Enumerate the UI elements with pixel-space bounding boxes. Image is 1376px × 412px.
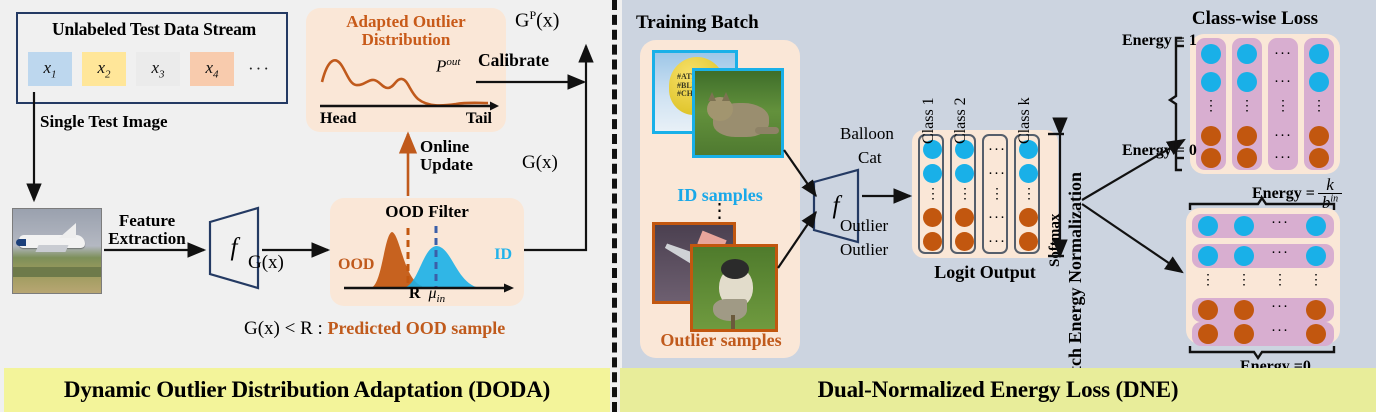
feature-extractor-trapezoid-left: f: [208, 206, 260, 290]
id-sample-cat-thumbnail: [692, 68, 784, 158]
logit-vertical-dots: ⋮: [920, 190, 946, 201]
class-wise-dot-blue: [1201, 44, 1221, 64]
dne-banner: Dual-Normalized Energy Loss (DNE): [620, 368, 1376, 412]
class-word-outlier-1: Outlier: [840, 216, 888, 236]
class-wise-dot-orange: [1237, 148, 1257, 168]
logit-dot-orange: [923, 232, 942, 251]
outlier-samples-label: Outlier samples: [636, 330, 806, 351]
p-out-symbol: Pout: [436, 56, 460, 77]
adapted-outlier-distribution-title: Adapted Outlier Distribution: [306, 13, 506, 50]
softmax-label: Softmax: [1047, 214, 1064, 267]
panel-divider: [612, 0, 617, 412]
class-wise-dot-blue: [1309, 72, 1329, 92]
predicted-ood-sample-text: Predicted OOD sample: [328, 318, 506, 338]
gx-after-encoder-label: G(x): [248, 252, 284, 274]
sample-wise-dot-orange: [1198, 324, 1218, 344]
single-test-image-label: Single Test Image: [40, 112, 168, 132]
logit-dot-orange: [1019, 208, 1038, 227]
sample-wise-dot-blue: [1306, 216, 1326, 236]
id-curve-label: ID: [494, 246, 512, 264]
ood-curve-label: OOD: [338, 256, 374, 274]
logit-vertical-dots: ⋮: [952, 190, 978, 201]
doda-banner: Dynamic Outlier Distribution Adaptation …: [4, 368, 610, 412]
energy-equals-1-label: Energy = 1: [1122, 32, 1197, 50]
class-wise-vertical-dots: ⋮: [1196, 102, 1226, 113]
calibrate-label: Calibrate: [478, 50, 549, 71]
energy-formula: Energy = k bin: [1252, 176, 1342, 211]
logit-dot-orange: [955, 208, 974, 227]
logit-horizontal-dots: ···: [984, 166, 1010, 183]
sample-wise-dot-blue: [1234, 246, 1254, 266]
sample-wise-dot-orange: [1306, 300, 1326, 320]
outlier-sample-bird-thumbnail: [690, 244, 778, 332]
stream-title: Unlabeled Test Data Stream: [18, 19, 290, 40]
class-wise-column-3: ······⋮······: [1268, 38, 1298, 170]
sample-wise-vertical-dots: ⋮: [1234, 276, 1254, 287]
class-wise-column-2: ⋮: [1232, 38, 1262, 170]
class-header-3: Class k: [1016, 97, 1034, 144]
logit-horizontal-dots: ···: [984, 142, 1010, 159]
energy-equals-0-label: Energy = 0: [1122, 142, 1197, 160]
adapted-head-tail-labels: Head Tail: [306, 110, 506, 128]
logit-column-4: ⋮: [1014, 134, 1040, 254]
class-wise-dot-orange: [1237, 126, 1257, 146]
class-wise-loss-title: Class-wise Loss: [1150, 8, 1360, 30]
class-wise-dot-blue: [1237, 44, 1257, 64]
sample-wise-vertical-dots: ⋮: [1306, 276, 1326, 287]
class-wise-column-1: ⋮: [1196, 38, 1226, 170]
class-word-cat: Cat: [858, 148, 882, 168]
sample-wise-row-2: ···: [1192, 244, 1334, 268]
training-batch-title: Training Batch: [636, 12, 759, 34]
class-wise-horizontal-dots: ···: [1268, 150, 1298, 167]
sample-wise-row-1: ···: [1192, 214, 1334, 238]
logit-horizontal-dots: ···: [984, 234, 1010, 251]
logit-dot-orange: [955, 232, 974, 251]
logit-dot-blue: [1019, 164, 1038, 183]
sample-wise-dot-blue: [1198, 216, 1218, 236]
class-wise-horizontal-dots: ···: [1268, 46, 1298, 63]
batch-energy-normalization-label: Batch Energy Normalization: [1065, 172, 1086, 393]
class-word-balloon: Balloon: [840, 124, 894, 144]
logit-dot-blue: [955, 164, 974, 183]
batch-vertical-dots: ⋮: [640, 205, 800, 217]
sample-wise-dot-blue: [1306, 246, 1326, 266]
test-sample-chip-2: x2: [82, 52, 126, 86]
class-header-2: Class 2: [952, 97, 970, 144]
logit-horizontal-dots: ···: [984, 210, 1010, 227]
adapted-outlier-distribution-card: Adapted Outlier Distribution Head Tail: [306, 8, 506, 132]
logit-output-label: Logit Output: [900, 262, 1070, 283]
sample-wise-horizontal-dots: ···: [1270, 245, 1290, 262]
logit-vertical-dots: ⋮: [984, 190, 1010, 201]
test-sample-chips: x1x2x3x4···: [28, 52, 271, 86]
sample-wise-row-3: ⋮⋮⋮⋮: [1192, 274, 1334, 298]
logit-column-2: ⋮: [950, 134, 976, 254]
logit-column-3: ······⋮······: [982, 134, 1008, 254]
sample-wise-horizontal-dots: ···: [1270, 215, 1290, 232]
logit-dot-orange: [1019, 232, 1038, 251]
feature-extraction-label: Feature Extraction: [92, 212, 202, 249]
class-wise-vertical-dots: ⋮: [1304, 102, 1334, 113]
class-wise-dot-blue: [1309, 44, 1329, 64]
ood-filter-card: OOD Filter OOD ID R μin: [330, 198, 524, 306]
class-wise-dot-orange: [1309, 148, 1329, 168]
logit-dot-orange: [923, 208, 942, 227]
logit-dot-blue: [923, 164, 942, 183]
class-wise-dot-orange: [1309, 126, 1329, 146]
class-wise-vertical-dots: ⋮: [1232, 102, 1262, 113]
sample-wise-dot-orange: [1234, 300, 1254, 320]
class-word-outlier-2: Outlier: [840, 240, 888, 260]
online-update-label: Online Update: [420, 138, 473, 175]
class-wise-vertical-dots: ⋮: [1268, 102, 1298, 113]
class-wise-horizontal-dots: ···: [1268, 74, 1298, 91]
logit-column-1: ⋮: [918, 134, 944, 254]
sample-wise-vertical-dots: ⋮: [1270, 276, 1290, 287]
class-wise-column-4: ⋮: [1304, 38, 1334, 170]
sample-wise-dot-orange: [1198, 300, 1218, 320]
sample-wise-dot-blue: [1198, 246, 1218, 266]
class-wise-dot-blue: [1237, 72, 1257, 92]
class-wise-dot-orange: [1201, 148, 1221, 168]
test-sample-chip-4: x4: [190, 52, 234, 86]
ood-axis-threshold-labels: R μin: [330, 285, 524, 305]
test-image-airplane: [12, 208, 102, 294]
logit-vertical-dots: ⋮: [1016, 190, 1042, 201]
gx-feedback-label: G(x): [522, 152, 558, 174]
sample-wise-dot-blue: [1234, 216, 1254, 236]
test-sample-chip-1: x1: [28, 52, 72, 86]
unlabeled-test-data-stream-box: Unlabeled Test Data Stream x1x2x3x4···: [16, 12, 288, 104]
energy-formula-numerator: k: [1322, 176, 1338, 193]
energy-formula-denominator: bin: [1318, 193, 1342, 211]
sample-wise-vertical-dots: ⋮: [1198, 276, 1218, 287]
test-sample-ellipsis: ···: [244, 59, 271, 79]
class-wise-dot-orange: [1201, 126, 1221, 146]
class-wise-dot-blue: [1201, 72, 1221, 92]
predicted-ood-sample-statement: G(x) < R : Predicted OOD sample: [244, 318, 505, 340]
gp-x-output-label: GP(x): [515, 8, 559, 33]
class-header-1: Class 1: [920, 97, 938, 144]
sample-wise-row-4: ···: [1192, 298, 1334, 322]
class-wise-horizontal-dots: ···: [1268, 128, 1298, 145]
sample-wise-dot-orange: [1306, 324, 1326, 344]
sample-wise-dot-orange: [1234, 324, 1254, 344]
test-sample-chip-3: x3: [136, 52, 180, 86]
sample-wise-horizontal-dots: ···: [1270, 299, 1290, 316]
sample-wise-horizontal-dots: ···: [1270, 323, 1290, 340]
sample-wise-row-5: ···: [1192, 322, 1334, 346]
